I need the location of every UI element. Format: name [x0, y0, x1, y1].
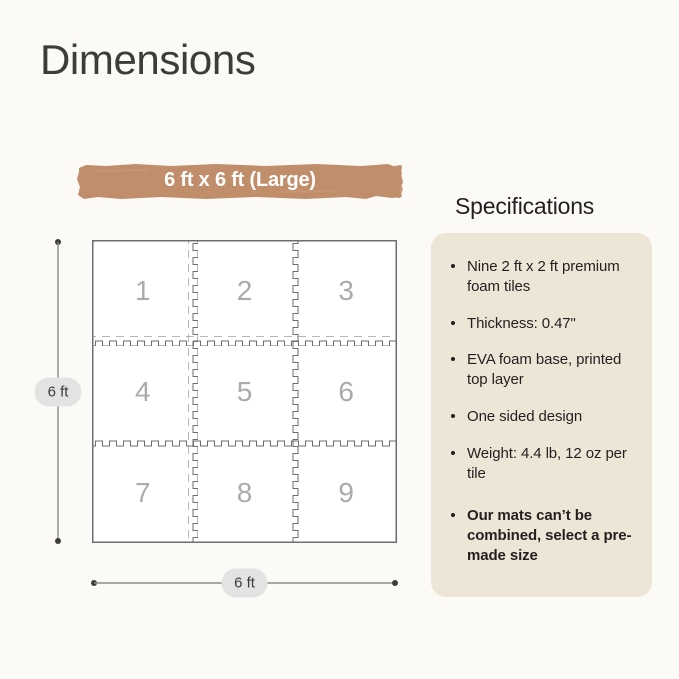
- spec-item-text: EVA foam base, printed top layer: [467, 351, 621, 388]
- spec-item-text: One sided design: [467, 408, 582, 425]
- bullet-icon: [451, 357, 455, 361]
- size-banner-label: 6 ft x 6 ft (Large): [76, 169, 404, 192]
- dimension-label-vertical: 6 ft: [35, 377, 82, 406]
- tile-grid-diagram: 1 2 3 4 5 6 7 8 9: [92, 240, 397, 543]
- dimension-label-horizontal: 6 ft: [221, 569, 268, 598]
- spec-item-text: Our mats can’t be combined, select a pre…: [467, 507, 631, 564]
- tile-cell: 9: [295, 442, 397, 543]
- tile-cell: 4: [92, 341, 194, 442]
- tile-cell: 1: [92, 240, 194, 341]
- tile-cells: 1 2 3 4 5 6 7 8 9: [92, 240, 397, 543]
- dimension-line-horizontal: 6 ft: [90, 566, 399, 600]
- bullet-icon: [451, 321, 455, 325]
- spec-item-text: Thickness: 0.47": [467, 315, 576, 332]
- spec-item: Nine 2 ft x 2 ft premium foam tiles: [451, 257, 634, 297]
- page-title: Dimensions: [40, 39, 255, 81]
- spec-item: EVA foam base, printed top layer: [451, 350, 634, 390]
- specifications-list: Nine 2 ft x 2 ft premium foam tiles Thic…: [451, 257, 634, 566]
- tile-cell: 8: [194, 442, 296, 543]
- specifications-heading: Specifications: [455, 193, 594, 220]
- bullet-icon: [451, 414, 455, 418]
- spec-item: Weight: 4.4 lb, 12 oz per tile: [451, 444, 634, 484]
- tile-cell: 3: [295, 240, 397, 341]
- tile-cell: 6: [295, 341, 397, 442]
- dimension-line-vertical: 6 ft: [44, 238, 72, 545]
- bullet-icon: [451, 513, 455, 517]
- spec-item-text: Nine 2 ft x 2 ft premium foam tiles: [467, 258, 620, 295]
- spec-item: Thickness: 0.47": [451, 314, 634, 334]
- specifications-panel: Nine 2 ft x 2 ft premium foam tiles Thic…: [431, 233, 652, 597]
- tile-cell: 2: [194, 240, 296, 341]
- tile-cell: 7: [92, 442, 194, 543]
- bullet-icon: [451, 264, 455, 268]
- spec-item: One sided design: [451, 407, 634, 427]
- spec-item-highlighted: Our mats can’t be combined, select a pre…: [451, 506, 634, 565]
- tile-cell: 5: [194, 341, 296, 442]
- size-banner: 6 ft x 6 ft (Large): [76, 160, 404, 202]
- bullet-icon: [451, 451, 455, 455]
- spec-item-text: Weight: 4.4 lb, 12 oz per tile: [467, 445, 627, 482]
